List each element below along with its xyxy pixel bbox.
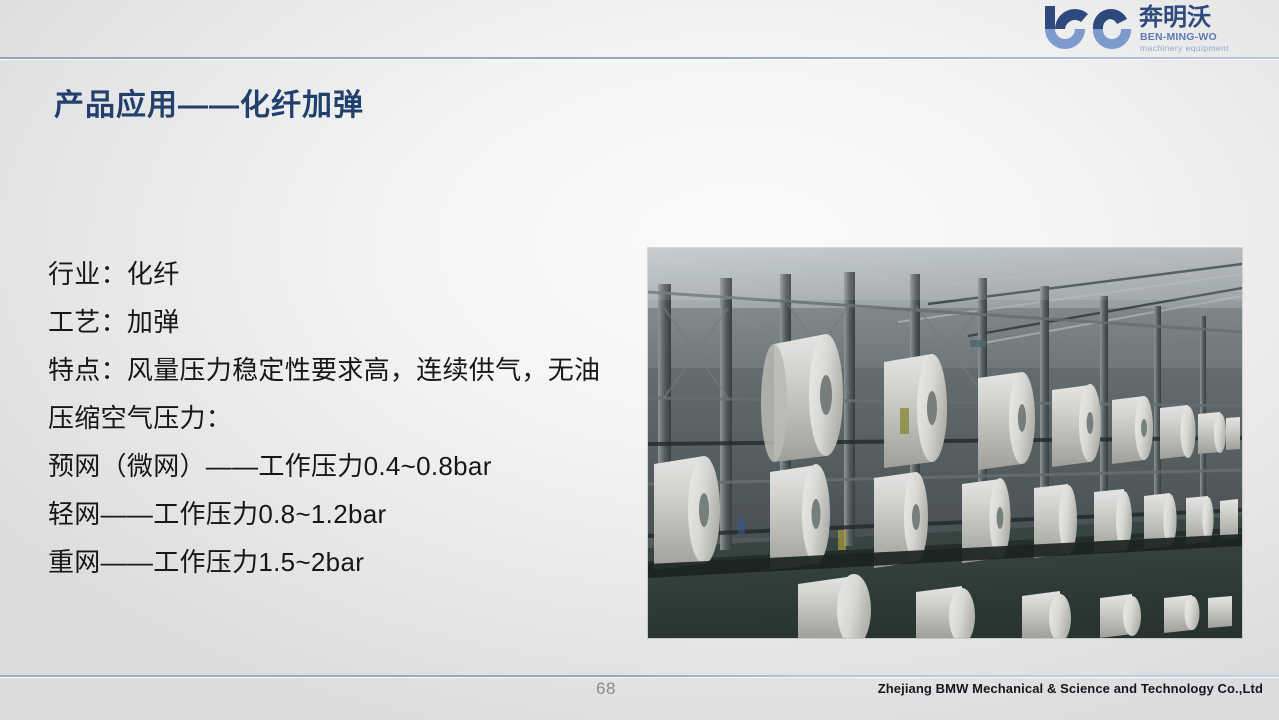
page-title: 产品应用——化纤加弹 [54,80,364,124]
text-line-features: 特点：风量压力稳定性要求高，连续供气，无油 [48,346,614,394]
logo-wordmark: 奔明沃 BEN-MING-WO machinery equipment [1139,3,1265,55]
header-divider-highlight [0,59,1279,60]
text-line-light-network: 轻网——工作压力0.8~1.2bar [48,490,614,538]
text-line-industry: 行业：化纤 [48,250,614,298]
text-line-process: 工艺：加弹 [48,298,614,346]
content-text-block: 行业：化纤 工艺：加弹 特点：风量压力稳定性要求高，连续供气，无油 压缩空气压力… [48,250,614,586]
page-number: 68 [596,679,616,699]
logo-english-name: BEN-MING-WO [1140,31,1217,43]
application-photo [648,248,1242,638]
text-line-pressure-heading: 压缩空气压力： [48,394,614,442]
slide-canvas: 奔明沃 BEN-MING-WO machinery equipment 产品应用… [0,0,1279,720]
footer-divider-highlight [0,677,1279,678]
text-line-heavy-network: 重网——工作压力1.5~2bar [48,538,614,586]
logo-tagline: machinery equipment [1140,43,1229,53]
bo-monogram-icon [1041,5,1137,53]
company-logo: 奔明沃 BEN-MING-WO machinery equipment [1035,3,1267,55]
logo-chinese-name: 奔明沃 [1139,4,1211,31]
footer-company-name: Zhejiang BMW Mechanical & Science and Te… [878,681,1263,696]
text-line-pre-network: 预网（微网）——工作压力0.4~0.8bar [48,442,614,490]
